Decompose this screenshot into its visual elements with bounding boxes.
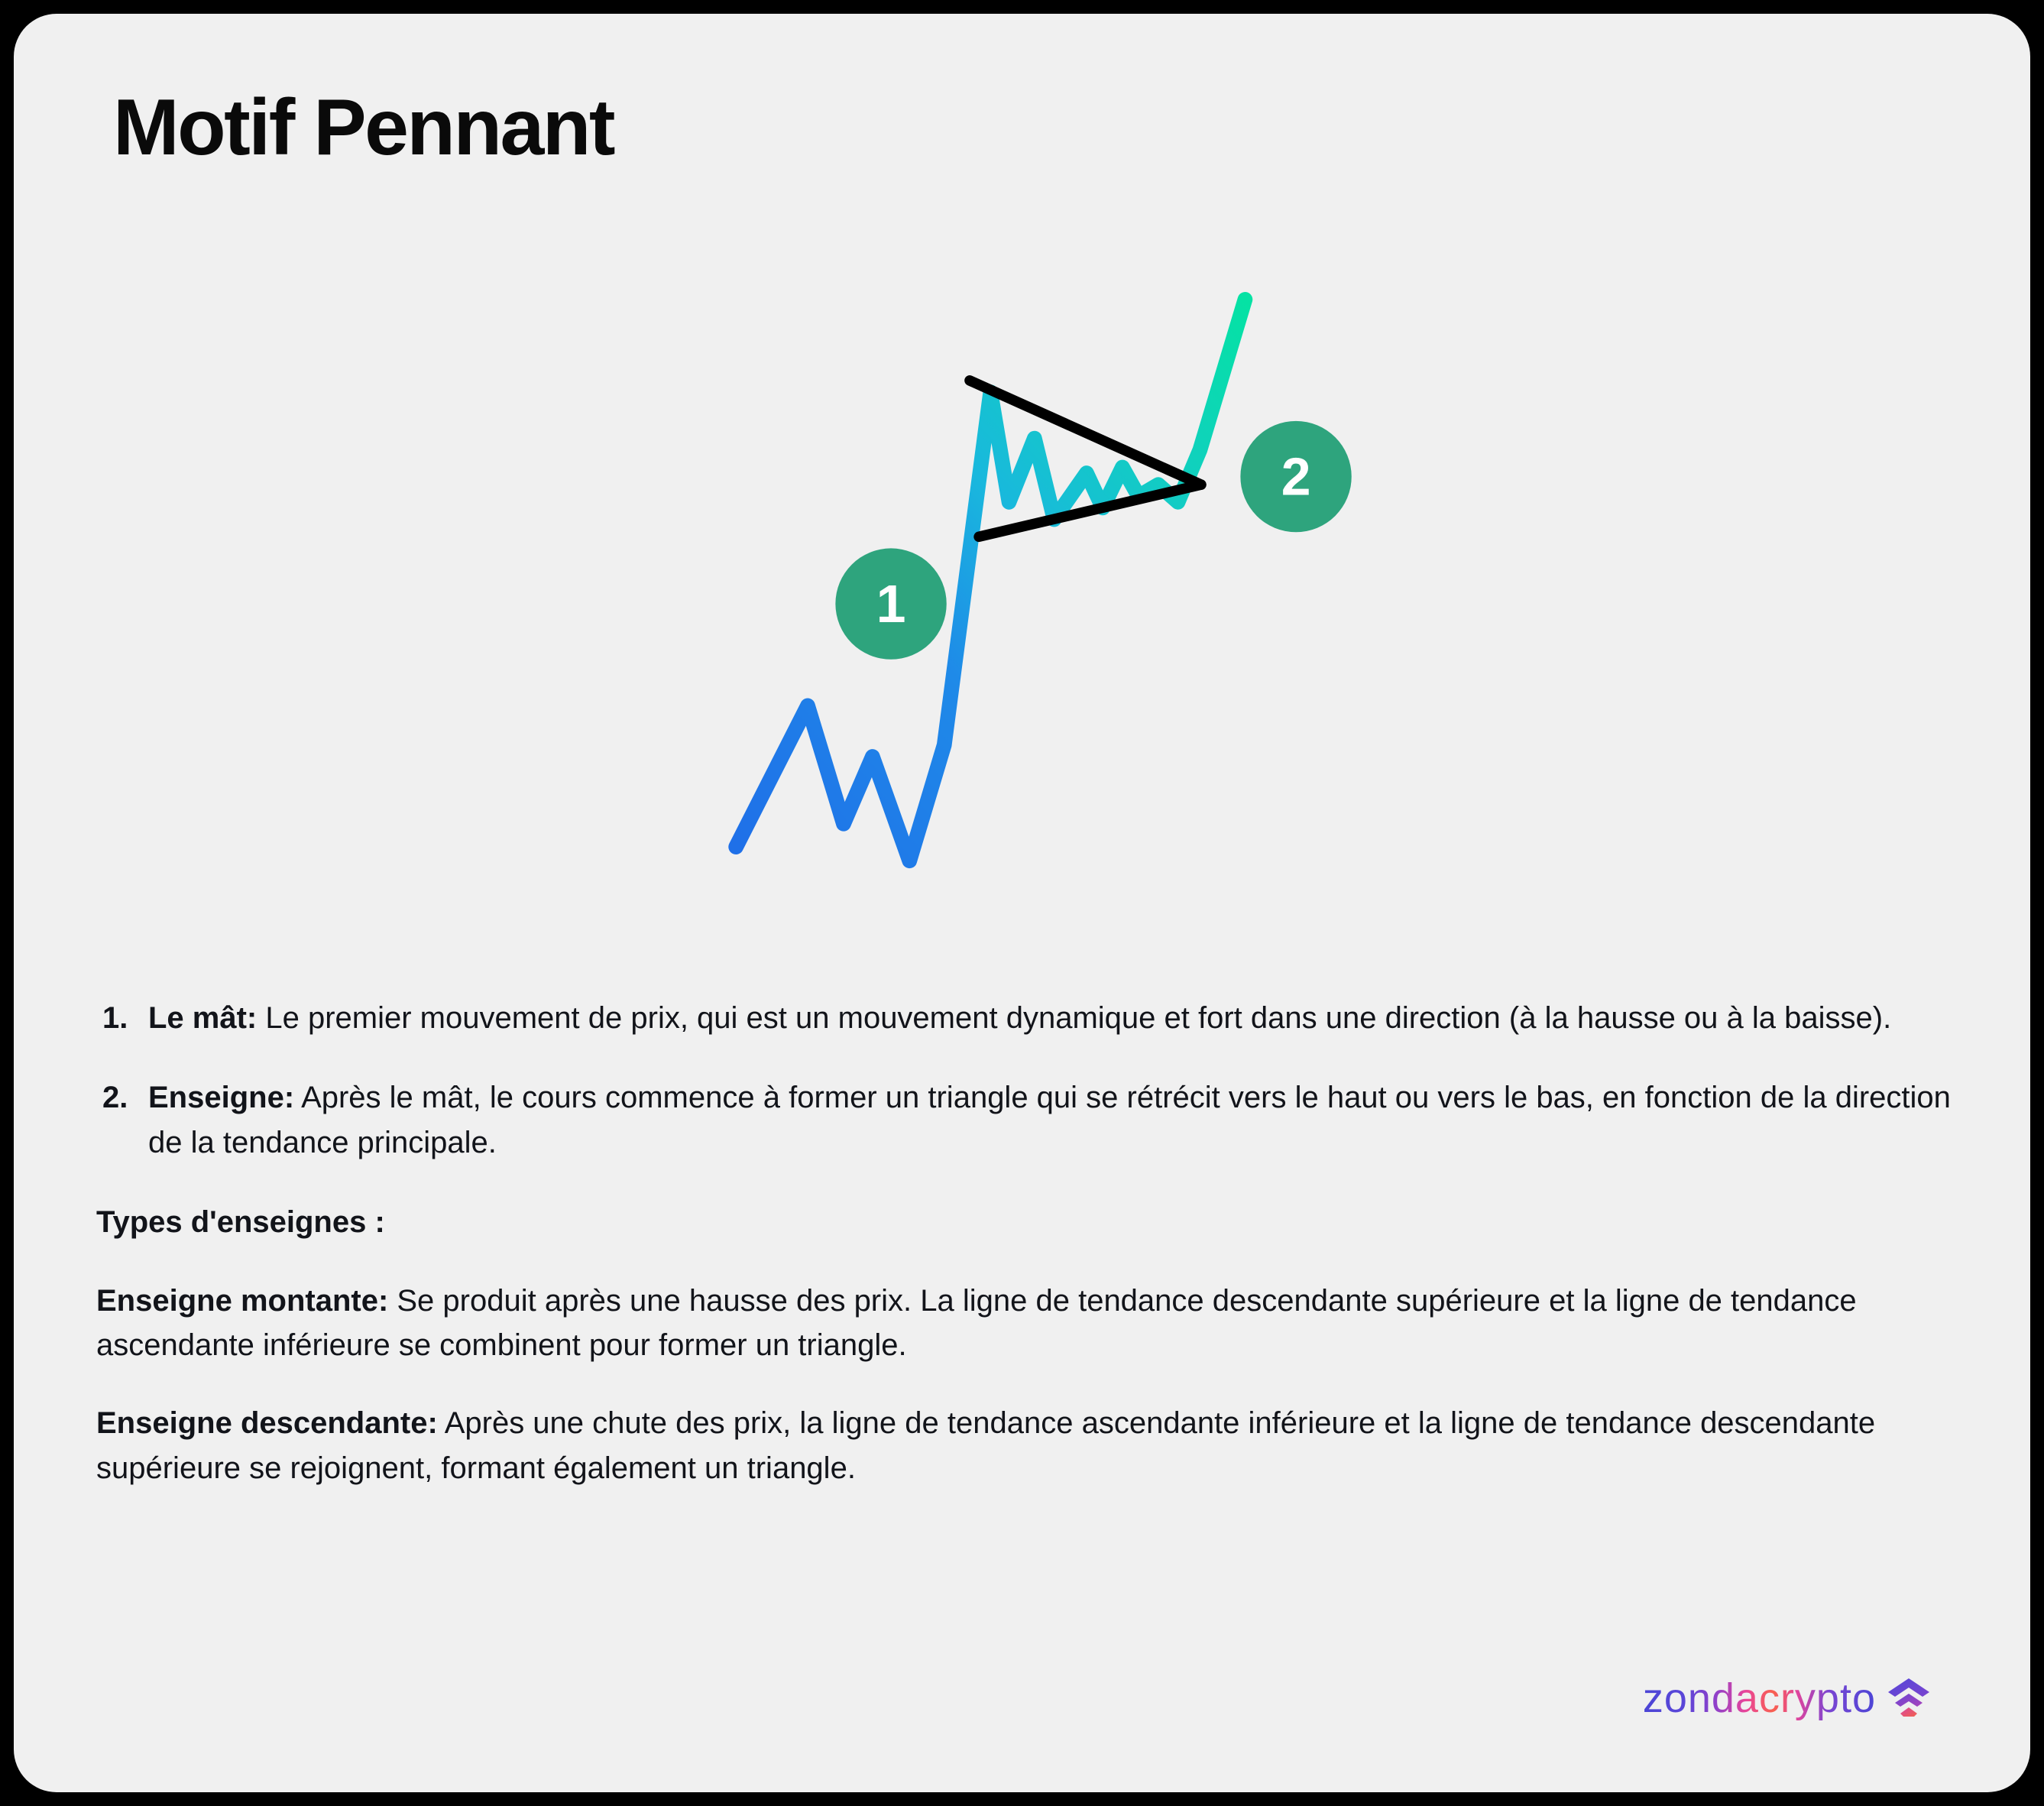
zonda-chevron-mark <box>1887 1677 1931 1720</box>
list-item-text: Le premier mouvement de prix, qui est un… <box>257 1001 1891 1035</box>
list-item: 2. Enseigne: Après le mât, le cours comm… <box>96 1075 1980 1165</box>
paragraph-rising-pennant: Enseigne montante: Se produit après une … <box>96 1279 1980 1368</box>
list-item: 1. Le mât: Le premier mouvement de prix,… <box>96 996 1980 1040</box>
brand-wordmark: zondacrypto <box>1643 1675 1876 1722</box>
price-path <box>736 300 1245 861</box>
marker-1: 1 <box>835 548 946 659</box>
brand-logo: zondacrypto <box>1643 1675 1931 1722</box>
list-item-number: 1. <box>102 996 128 1040</box>
list-item-lead: Enseigne: <box>148 1081 294 1114</box>
body-content: 1. Le mât: Le premier mouvement de prix,… <box>96 996 1980 1490</box>
paragraph-lead: Enseigne descendante: <box>96 1406 438 1440</box>
list-item-lead: Le mât: <box>148 1001 257 1035</box>
marker-2-label: 2 <box>1281 447 1311 507</box>
section-subheading: Types d'enseignes : <box>96 1200 1980 1244</box>
pennant-chart-svg: 1 2 <box>724 266 1534 923</box>
steps-list: 1. Le mât: Le premier mouvement de prix,… <box>96 996 1980 1165</box>
page-title: Motif Pennant <box>113 86 614 170</box>
pennant-chart-illustration: 1 2 <box>724 266 1534 923</box>
paragraph-falling-pennant: Enseigne descendante: Après une chute de… <box>96 1401 1980 1490</box>
marker-2: 2 <box>1240 421 1351 532</box>
list-item-text: Après le mât, le cours commence à former… <box>148 1081 1951 1159</box>
list-item-number: 2. <box>102 1075 128 1120</box>
marker-1-label: 1 <box>876 574 906 634</box>
page-root: Motif Pennant <box>0 0 2044 1806</box>
paragraph-lead: Enseigne montante: <box>96 1284 388 1318</box>
content-card: Motif Pennant <box>14 14 2030 1792</box>
